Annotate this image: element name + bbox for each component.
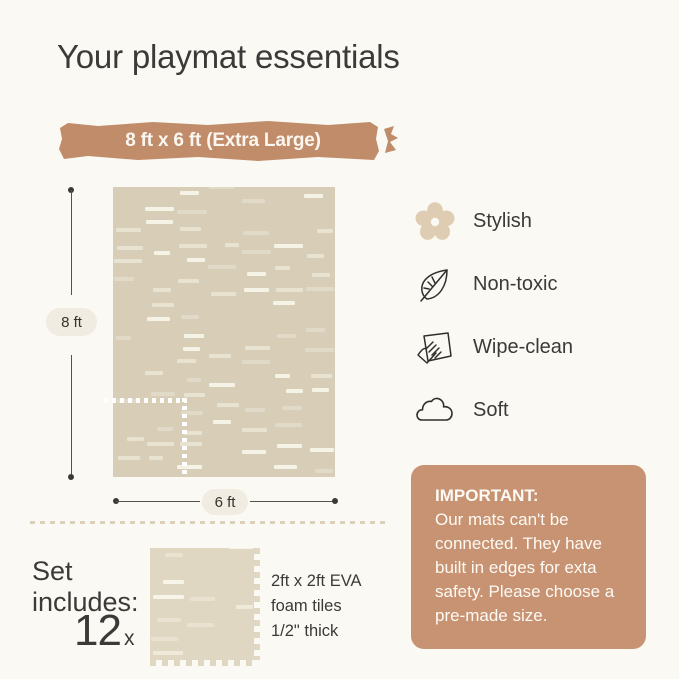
mat-dash	[145, 371, 163, 375]
mat-dash	[153, 595, 184, 599]
mat-dash	[317, 229, 334, 233]
mat-dash	[152, 303, 174, 307]
mat-dash	[153, 651, 183, 655]
mat-dash	[307, 254, 324, 258]
mat-dash	[117, 246, 143, 250]
tile-count-suffix: x	[124, 627, 135, 651]
mat-dash	[165, 553, 183, 557]
feature-list: Stylish Non-toxic	[411, 190, 573, 442]
mat-dash	[242, 428, 267, 432]
mat-dash	[274, 465, 298, 469]
dim-v-line-bottom	[71, 355, 72, 477]
mat-dash	[277, 444, 302, 448]
mat-dash	[311, 374, 332, 378]
size-banner-label: 8 ft x 6 ft (Extra Large)	[58, 119, 388, 163]
mat-dash	[306, 328, 325, 332]
mat-dash	[315, 469, 333, 473]
tile-count-number: 12	[74, 606, 121, 656]
mat-dash	[184, 334, 204, 338]
mat-dash	[187, 623, 214, 627]
mat-dash	[151, 392, 175, 396]
mat-dash	[217, 403, 239, 407]
mat-dash	[116, 228, 142, 232]
feature-label-non-toxic: Non-toxic	[473, 273, 557, 296]
mat-dash	[190, 597, 215, 601]
mat-dash	[187, 258, 205, 262]
mat-dash	[116, 336, 131, 340]
mat-dash	[236, 605, 252, 609]
mat-dash	[282, 406, 302, 410]
mat-dash	[208, 265, 236, 269]
mat-dash	[187, 378, 202, 382]
mat-dash	[275, 266, 290, 270]
mat-dash	[209, 187, 234, 189]
dim-h-line-left	[116, 501, 200, 502]
mat-dash	[242, 360, 270, 364]
mat-dash	[242, 199, 265, 203]
feature-label-stylish: Stylish	[473, 210, 532, 233]
mat-dash	[211, 292, 236, 296]
mat-dash	[310, 448, 334, 452]
tile-description-line1: 2ft x 2ft EVA	[271, 569, 361, 594]
infographic-page: Your playmat essentials 8 ft x 6 ft (Ext…	[0, 0, 679, 679]
mat-dash	[180, 227, 201, 231]
flower-icon	[411, 198, 459, 246]
mat-dash	[146, 220, 173, 224]
tile-notch-right	[182, 398, 187, 477]
mat-dash	[275, 423, 302, 427]
mat-dash	[242, 450, 266, 454]
sample-tile-notch-right	[254, 548, 260, 660]
mat-dash	[177, 359, 196, 363]
important-note-body: Our mats can't be connected. They have b…	[435, 508, 626, 628]
mat-dash	[209, 354, 232, 358]
mat-dash	[245, 346, 270, 350]
mat-dash	[273, 301, 295, 305]
mat-dash	[151, 637, 178, 641]
mat-dash	[147, 317, 170, 321]
mat-dash	[154, 251, 170, 255]
leaf-icon	[411, 261, 459, 309]
width-label: 6 ft	[202, 489, 248, 515]
sample-tile-body	[150, 548, 254, 660]
mat-dash	[178, 279, 199, 283]
mat-dash	[229, 548, 253, 549]
mat-dash	[225, 243, 240, 247]
size-banner: 8 ft x 6 ft (Extra Large)	[58, 119, 400, 163]
page-title: Your playmat essentials	[57, 38, 400, 76]
important-note-title: IMPORTANT:	[435, 484, 626, 508]
mat-dash	[114, 259, 141, 263]
dim-v-line-top	[71, 190, 72, 295]
mat-dash	[242, 250, 271, 254]
mat-dash	[184, 431, 202, 435]
tile-description-line3: 1/2" thick	[271, 619, 361, 644]
mat-dash	[312, 273, 330, 277]
mat-dash	[145, 207, 174, 211]
dim-h-line-right	[250, 501, 334, 502]
mat-dash	[312, 388, 329, 392]
dim-v-dot-bottom	[68, 474, 74, 480]
mat-dash	[163, 580, 184, 584]
mat-dash	[275, 374, 289, 378]
dim-h-dot-right	[332, 498, 338, 504]
mat-dash	[277, 334, 297, 338]
mat-dash	[184, 393, 205, 397]
mat-dash	[114, 277, 134, 281]
feature-item-wipe-clean: Wipe-clean	[411, 316, 573, 379]
mat-dash	[247, 272, 266, 276]
important-note-box: IMPORTANT: Our mats can't be connected. …	[411, 465, 646, 649]
height-label: 8 ft	[46, 308, 97, 336]
set-includes-count: 12 x	[74, 606, 134, 656]
mat-dash	[177, 210, 206, 214]
feature-label-soft: Soft	[473, 399, 509, 422]
mat-dash	[286, 389, 303, 393]
tile-description: 2ft x 2ft EVA foam tiles 1/2" thick	[271, 569, 361, 644]
mat-dash	[244, 288, 269, 292]
mat-dash	[213, 420, 231, 424]
mat-dash	[209, 383, 236, 387]
feature-label-wipe-clean: Wipe-clean	[473, 336, 573, 359]
mat-dash	[183, 347, 201, 351]
tile-description-line2: foam tiles	[271, 594, 361, 619]
mat-dash	[243, 231, 270, 235]
mat-dash	[153, 288, 170, 292]
mat-dash	[179, 244, 208, 248]
mat-dash	[274, 244, 304, 248]
section-divider	[30, 521, 385, 524]
mat-dash	[305, 348, 335, 352]
cloud-icon	[411, 387, 459, 435]
highlighted-tile	[104, 398, 187, 477]
tile-notch-top	[104, 398, 187, 403]
feature-item-stylish: Stylish	[411, 190, 573, 253]
feature-item-non-toxic: Non-toxic	[411, 253, 573, 316]
wipe-cloth-icon	[411, 324, 459, 372]
feature-item-soft: Soft	[411, 379, 573, 442]
mat-dash	[157, 618, 181, 622]
mat-dash	[276, 288, 303, 292]
sample-tile-notch-bottom	[150, 660, 254, 666]
mat-dash	[181, 315, 199, 319]
mat-dash	[180, 191, 199, 195]
sample-tile-graphic	[150, 548, 260, 666]
set-includes-line1: Set	[32, 556, 139, 587]
mat-dash	[306, 287, 333, 291]
mat-dash	[245, 408, 265, 412]
mat-dash	[304, 194, 323, 198]
